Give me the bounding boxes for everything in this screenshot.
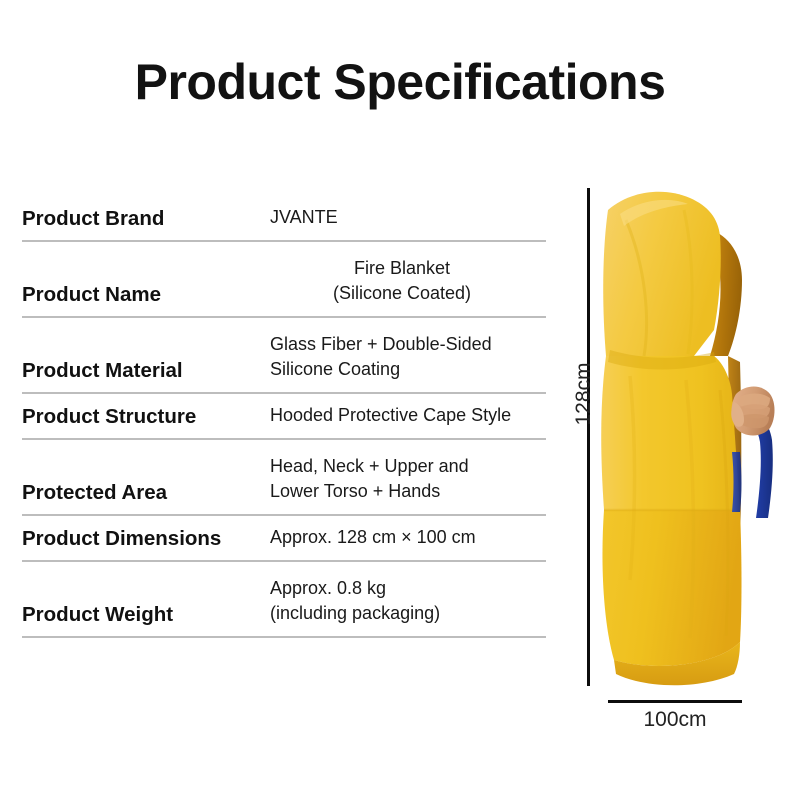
spec-value-protected-area: Head, Neck + Upper and Lower Torso + Han…: [270, 454, 546, 514]
spec-value-line: Head, Neck + Upper and: [270, 454, 546, 480]
width-measurement-label: 100cm: [602, 708, 748, 732]
product-specifications-table: Product Brand JVANTE Product Name Fire B…: [22, 196, 546, 638]
spec-value-line: Fire Blanket: [270, 256, 534, 282]
spec-value-line: (including packaging): [270, 601, 546, 627]
spec-value-line: Silicone Coating: [270, 357, 546, 383]
spec-label-product-dimensions: Product Dimensions: [22, 527, 270, 560]
spec-value-product-material: Glass Fiber + Double-Sided Silicone Coat…: [270, 332, 546, 392]
spec-value-product-dimensions: Approx. 128 cm × 100 cm: [270, 525, 546, 560]
spec-value-line: Glass Fiber + Double-Sided: [270, 332, 546, 358]
width-measurement-line: [608, 700, 742, 703]
page-title: Product Specifications: [0, 55, 800, 110]
spec-value-product-structure: Hooded Protective Cape Style: [270, 403, 546, 438]
spec-label-protected-area: Protected Area: [22, 481, 270, 514]
spec-value-line: Hooded Protective Cape Style: [270, 403, 546, 429]
spec-label-product-weight: Product Weight: [22, 603, 270, 636]
hand-holding-strap: [728, 378, 792, 528]
table-row: Protected Area Head, Neck + Upper and Lo…: [22, 440, 546, 516]
spec-label-product-structure: Product Structure: [22, 405, 270, 438]
table-row: Product Brand JVANTE: [22, 196, 546, 242]
spec-value-product-brand: JVANTE: [270, 205, 546, 240]
table-row: Product Structure Hooded Protective Cape…: [22, 394, 546, 440]
spec-label-product-name: Product Name: [22, 283, 270, 316]
spec-value-line: Approx. 0.8 kg: [270, 576, 546, 602]
table-row: Product Weight Approx. 0.8 kg (including…: [22, 562, 546, 638]
spec-label-product-brand: Product Brand: [22, 207, 270, 240]
spec-value-line: Approx. 128 cm × 100 cm: [270, 525, 546, 551]
table-row: Product Dimensions Approx. 128 cm × 100 …: [22, 516, 546, 562]
product-photo-area: 128cm: [560, 150, 800, 750]
spec-value-product-name: Fire Blanket (Silicone Coated): [270, 256, 546, 316]
spec-value-line: JVANTE: [270, 205, 546, 231]
table-row: Product Material Glass Fiber + Double-Si…: [22, 318, 546, 394]
spec-value-line: (Silicone Coated): [270, 281, 534, 307]
spec-value-line: Lower Torso + Hands: [270, 479, 546, 505]
spec-label-product-material: Product Material: [22, 359, 270, 392]
spec-value-product-weight: Approx. 0.8 kg (including packaging): [270, 576, 546, 636]
table-row: Product Name Fire Blanket (Silicone Coat…: [22, 242, 546, 318]
